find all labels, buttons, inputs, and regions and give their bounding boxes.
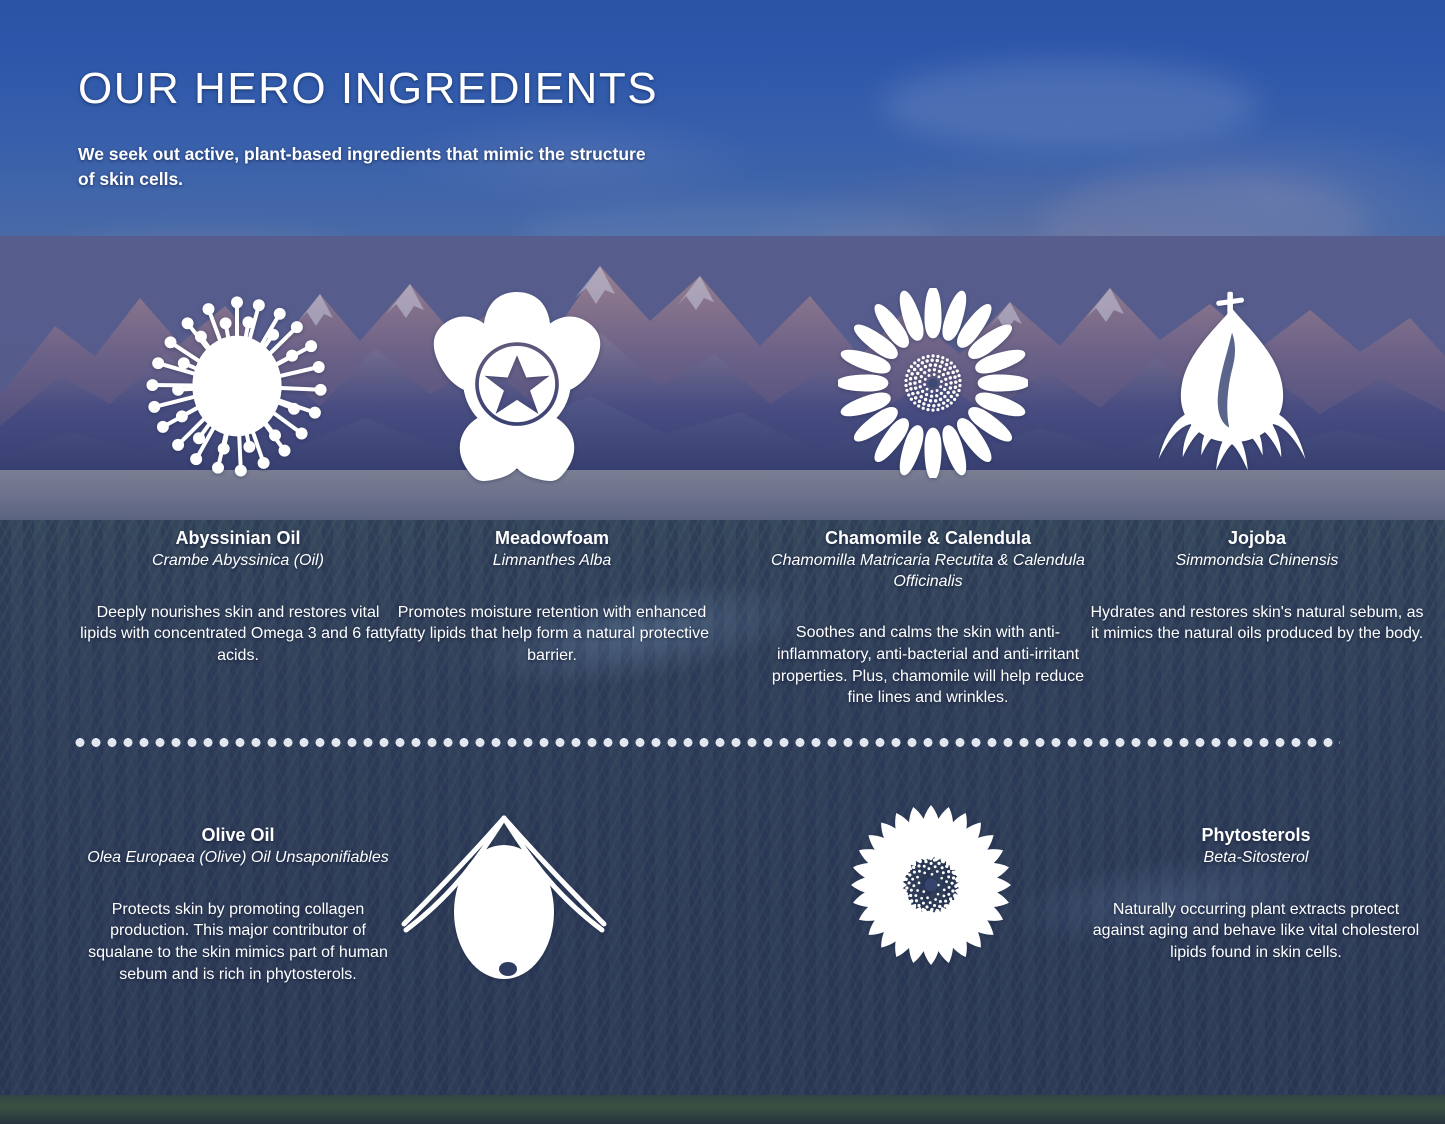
ingredient-card: Chamomile & Calendula Chamomilla Matrica…: [762, 527, 1094, 709]
ingredient-latin-name: Limnanthes Alba: [392, 551, 712, 571]
ingredient-latin-name: Simmondsia Chinensis: [1090, 551, 1424, 571]
ingredient-description: Soothes and calms the skin with anti-inf…: [762, 622, 1094, 708]
jojoba-seed-icon: [1152, 288, 1312, 474]
hero-ingredients-poster: OUR HERO INGREDIENTS We seek out active,…: [0, 0, 1445, 1124]
page-subtitle: We seek out active, plant-based ingredie…: [78, 142, 658, 193]
ingredient-card: Olive Oil Olea Europaea (Olive) Oil Unsa…: [78, 824, 398, 985]
daisy-flower-icon: [838, 288, 1028, 478]
page-title: OUR HERO INGREDIENTS: [78, 64, 658, 114]
ingredient-card: Phytosterols Beta-Sitosterol Naturally o…: [1086, 824, 1426, 964]
ingredient-card: Meadowfoam Limnanthes Alba Promotes mois…: [392, 527, 712, 667]
ingredient-description: Deeply nourishes skin and restores vital…: [78, 602, 398, 667]
sunburst-seed-icon: [142, 288, 332, 484]
ingredient-latin-name: Olea Europaea (Olive) Oil Unsaponifiable…: [78, 848, 398, 868]
ingredient-card: Jojoba Simmondsia Chinensis Hydrates and…: [1090, 527, 1424, 645]
ingredient-latin-name: Crambe Abyssinica (Oil): [78, 551, 398, 571]
olive-fruit-leaves-icon: [396, 812, 612, 988]
ingredient-name: Jojoba: [1090, 527, 1424, 550]
ingredient-name: Chamomile & Calendula: [762, 527, 1094, 550]
ingredient-name: Olive Oil: [78, 824, 398, 847]
ingredient-description: Protects skin by promoting collagen prod…: [78, 899, 398, 985]
ingredient-name: Meadowfoam: [392, 527, 712, 550]
ingredient-description: Promotes moisture retention with enhance…: [392, 602, 712, 667]
five-petal-flower-star-icon: [424, 286, 610, 484]
ingredient-description: Hydrates and restores skin's natural seb…: [1090, 602, 1424, 645]
ingredient-name: Abyssinian Oil: [78, 527, 398, 550]
ingredient-name: Phytosterols: [1086, 824, 1426, 847]
ingredient-card: Abyssinian Oil Crambe Abyssinica (Oil) D…: [78, 527, 398, 667]
ingredient-latin-name: Chamomilla Matricaria Recutita & Calendu…: [762, 551, 1094, 592]
ingredient-latin-name: Beta-Sitosterol: [1086, 848, 1426, 868]
sunflower-icon: [838, 792, 1024, 978]
ingredient-description: Naturally occurring plant extracts prote…: [1086, 899, 1426, 964]
dotted-divider: [72, 738, 1340, 747]
